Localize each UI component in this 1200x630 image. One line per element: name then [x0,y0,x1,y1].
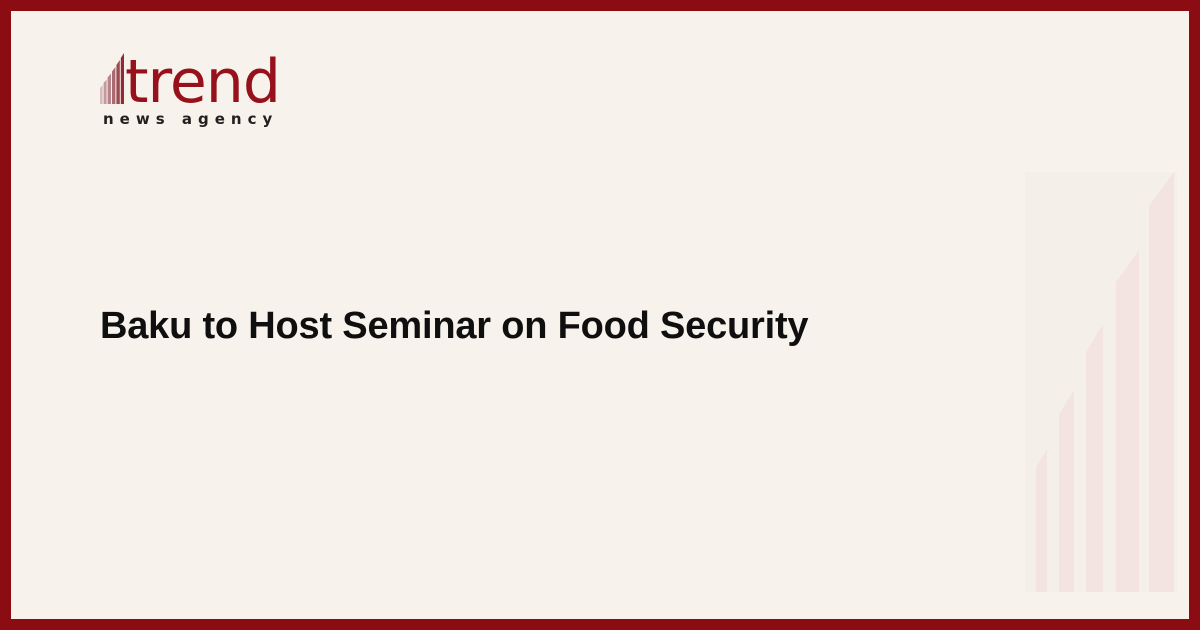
watermark-bar-2 [1059,390,1074,592]
logo-wordmark: trend [125,56,280,108]
trend-bars-logo-mark-icon [100,52,124,104]
social-share-card: trend news agency Baku to Host Seminar o… [0,0,1200,630]
watermark-bar-3 [1086,324,1103,592]
card-canvas: trend news agency Baku to Host Seminar o… [11,11,1189,619]
trend-news-agency-logo[interactable]: trend news agency [100,42,280,142]
headline-title: Baku to Host Seminar on Food Security [100,303,960,349]
watermark-bar-5 [1149,172,1174,592]
watermark-bar-4 [1116,250,1139,592]
watermark-bar-1 [1036,449,1047,592]
logo-primary-row: trend [100,42,280,104]
decorative-bar-chart-watermark [1025,172,1177,592]
